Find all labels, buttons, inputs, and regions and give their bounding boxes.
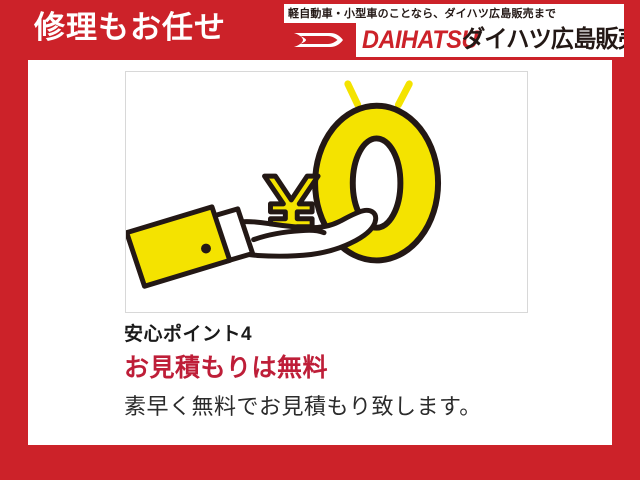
slide-canvas: 修理もお任せ 軽自動車・小型車のことなら、ダイハツ広島販売まで DAIHATSU…	[0, 0, 640, 480]
point-label: 安心ポイント4	[124, 322, 594, 348]
page-title: 修理もお任せ	[34, 8, 226, 48]
brand-panel: 軽自動車・小型車のことなら、ダイハツ広島販売まで DAIHATSU ダイハツ広島…	[284, 4, 624, 57]
point-text-block: 安心ポイント4 お見積もりは無料 素早く無料でお見積もり致します。	[124, 322, 594, 422]
point-headline: お見積もりは無料	[124, 353, 594, 383]
daihatsu-d-mark-icon	[284, 23, 356, 57]
yellow-sleeve-icon	[127, 207, 230, 286]
brand-tagline: 軽自動車・小型車のことなら、ダイハツ広島販売まで	[288, 5, 556, 21]
point-description: 素早く無料でお見積もり致します。	[124, 392, 594, 422]
brand-name-en: DAIHATSU	[362, 25, 478, 55]
header-bar: 修理もお任せ 軽自動車・小型車のことなら、ダイハツ広島販売まで DAIHATSU…	[0, 0, 640, 60]
content-card: 安心ポイント4 お見積もりは無料 素早く無料でお見積もり致します。	[28, 60, 612, 445]
brand-lockup: DAIHATSU ダイハツ広島販売	[284, 23, 624, 57]
illustration-frame	[125, 71, 528, 313]
brand-name-jp: ダイハツ広島販売	[462, 26, 624, 54]
hand-holding-yen-zero-icon	[126, 72, 527, 312]
sparkle-lines-icon	[348, 84, 409, 105]
